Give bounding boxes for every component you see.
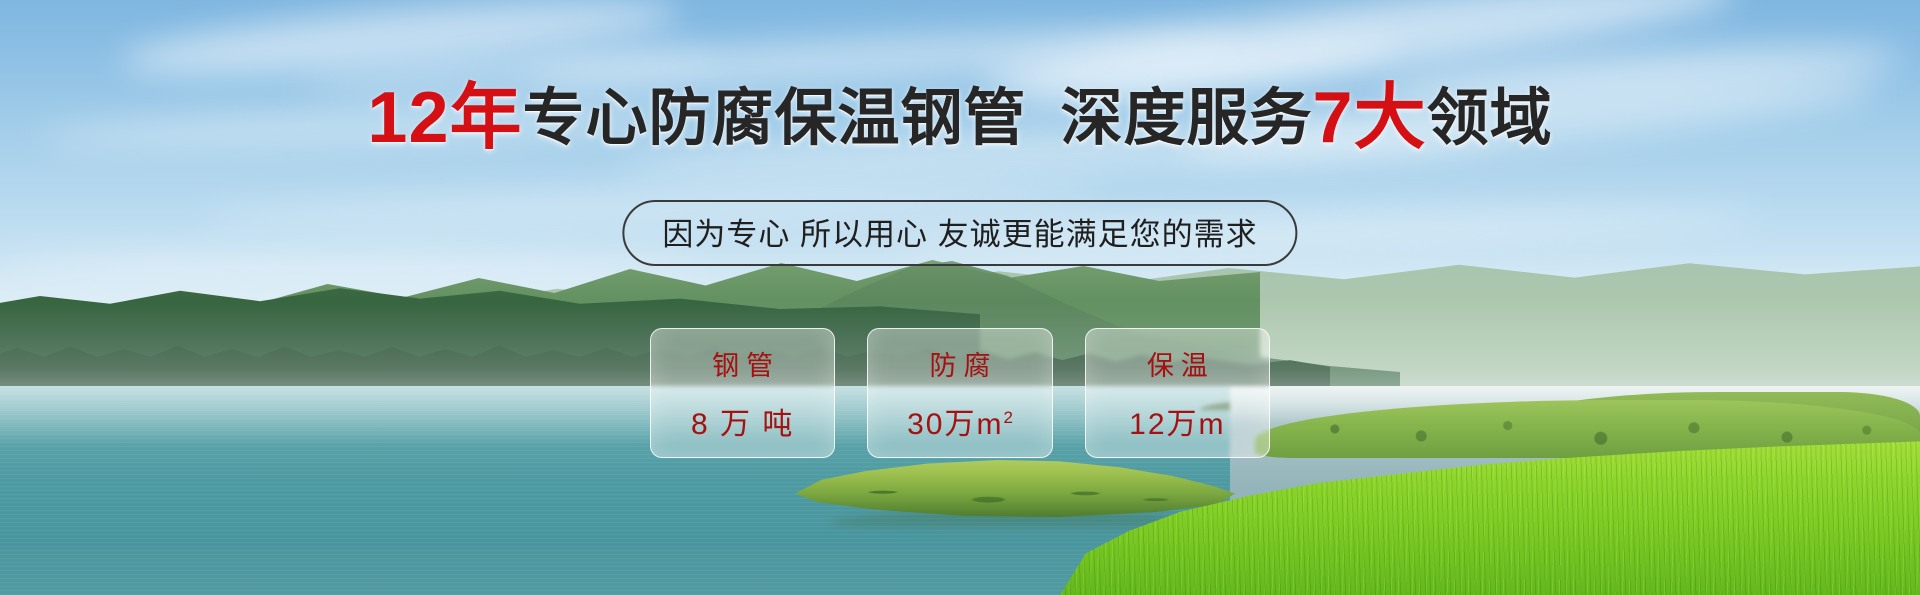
stat-card-list: 钢管 8 万 吨 防腐 30万m2 保温 12万m: [650, 328, 1270, 456]
banner-subtitle-pill: 因为专心 所以用心 友诚更能满足您的需求: [622, 200, 1297, 266]
stat-card-anticorrosion[interactable]: 防腐 30万m2: [867, 328, 1052, 458]
promo-banner: 12年专心防腐保温钢管深度服务7大领域 因为专心 所以用心 友诚更能满足您的需求…: [0, 0, 1920, 595]
headline-fields-text: 领域: [1427, 84, 1553, 153]
stat-card-steel-pipe[interactable]: 钢管 8 万 吨: [650, 328, 835, 458]
banner-headline: 12年专心防腐保温钢管深度服务7大领域: [0, 82, 1920, 154]
stat-value-text: 8 万 吨: [691, 408, 794, 441]
stat-card-insulation[interactable]: 保温 12万m: [1085, 328, 1270, 458]
stat-card-title: 钢管: [705, 344, 780, 383]
banner-content: 12年专心防腐保温钢管深度服务7大领域 因为专心 所以用心 友诚更能满足您的需求…: [0, 0, 1920, 595]
stat-card-value: 8 万 吨: [691, 399, 794, 443]
headline-years-highlight: 12年: [367, 78, 522, 158]
headline-fields-highlight: 7大: [1313, 78, 1427, 158]
stat-card-title: 防腐: [922, 344, 997, 383]
headline-service-text: 深度服务: [1061, 84, 1313, 153]
stat-card-title: 保温: [1140, 344, 1215, 383]
stat-card-value: 12万m: [1129, 399, 1225, 443]
stat-value-text: 30万m: [907, 408, 1003, 441]
stat-value-superscript: 2: [1003, 408, 1012, 427]
headline-main-text: 专心防腐保温钢管: [523, 84, 1027, 153]
stat-value-text: 12万m: [1129, 408, 1225, 441]
stat-card-value: 30万m2: [907, 399, 1013, 443]
